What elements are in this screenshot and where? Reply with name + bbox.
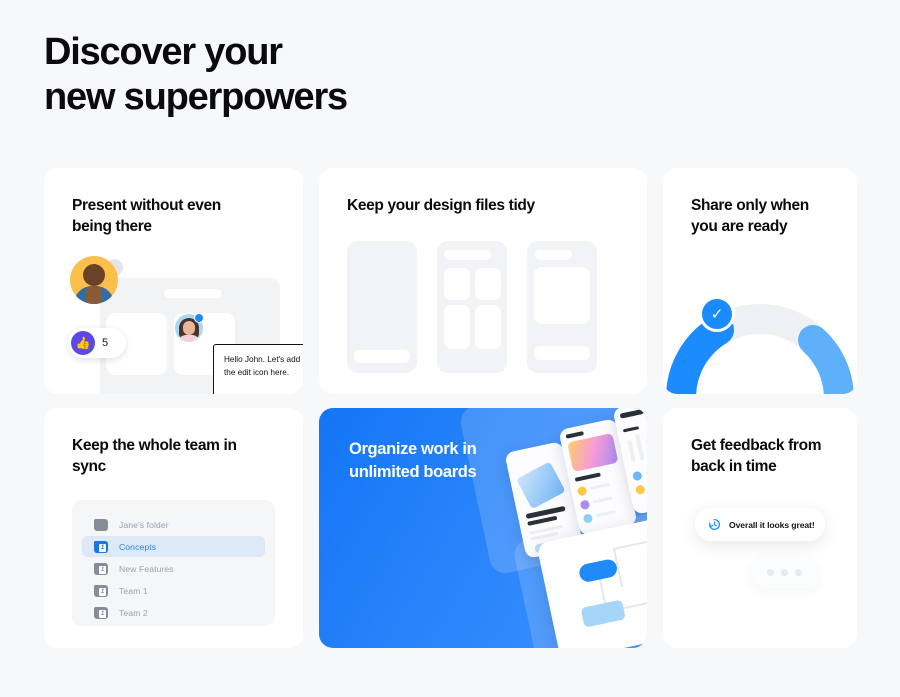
folder-badge: 1: [99, 566, 106, 574]
folder-icon: 1: [94, 607, 108, 619]
folder-label: Team 1: [119, 586, 148, 596]
check-icon: ✓: [699, 296, 735, 332]
folder-badge: 1: [99, 544, 106, 552]
folder-label: Jane's folder: [119, 520, 169, 530]
page-title: Discover your new superpowers: [44, 30, 347, 120]
list-item[interactable]: 1 Team 2: [82, 602, 265, 623]
list-item[interactable]: 1 Team 1: [82, 580, 265, 601]
typing-indicator: [751, 556, 817, 588]
card-organize-unlimited-boards[interactable]: Organize work in unlimited boards: [319, 408, 647, 648]
folder-icon: [94, 519, 108, 531]
avatar-jane: [175, 314, 203, 342]
card-title-feedback: Get feedback from back in time: [691, 435, 839, 478]
folder-icon: 1: [94, 563, 108, 575]
card-title-present: Present without even being there: [72, 195, 285, 238]
thumbs-up-icon: 👍: [71, 331, 95, 355]
card-title-sync: Keep the whole team in sync: [72, 435, 285, 478]
folder-badge: 1: [99, 610, 106, 618]
list-item[interactable]: 1 New Features: [82, 558, 265, 579]
card-keep-design-files-tidy[interactable]: Keep your design files tidy: [319, 168, 647, 394]
like-button[interactable]: 👍 5: [68, 328, 126, 358]
feedback-message-bubble: Overall it looks great!: [695, 508, 825, 541]
phone-mockup-1: [347, 241, 417, 373]
online-status-dot: [194, 313, 204, 323]
folder-icon: 1: [94, 585, 108, 597]
typing-dot: [781, 569, 788, 576]
folder-icon: 1: [94, 541, 108, 553]
comment-bubble: Hello John. Let's add the edit icon here…: [213, 344, 303, 394]
feedback-message-text: Overall it looks great!: [729, 520, 815, 530]
folder-list: Jane's folder 1 Concepts 1 New Features …: [72, 500, 275, 626]
present-illustration: 👍 5 Hello John. Let's add the edit icon …: [44, 256, 303, 394]
card-keep-team-in-sync[interactable]: Keep the whole team in sync Jane's folde…: [44, 408, 303, 648]
flow-node-rect: [581, 599, 626, 627]
typing-dot: [795, 569, 802, 576]
phone-mockup-2: [437, 241, 507, 373]
folder-label: New Features: [119, 564, 174, 574]
folder-label: Concepts: [119, 542, 156, 552]
list-item[interactable]: 1 Concepts: [82, 536, 265, 557]
flow-node-pill: [578, 558, 619, 584]
history-clock-icon: [708, 518, 721, 531]
files-illustration: [347, 241, 607, 373]
feature-card-grid: Present without even being there 👍 5: [44, 168, 857, 648]
card-get-feedback[interactable]: Get feedback from back in time Overall i…: [663, 408, 857, 648]
page-root: Discover your new superpowers Present wi…: [0, 0, 900, 697]
card-present-without-being-there[interactable]: Present without even being there 👍 5: [44, 168, 303, 394]
avatar-john: [70, 256, 118, 304]
list-item[interactable]: Jane's folder: [82, 514, 265, 535]
ghost-bar: [164, 289, 222, 298]
flow-node-diamond: [646, 567, 647, 614]
card-title-share: Share only when you are ready: [691, 195, 839, 238]
share-gauge-illustration: ✓: [663, 294, 857, 394]
typing-dot: [767, 569, 774, 576]
like-count: 5: [102, 337, 108, 349]
card-share-when-ready[interactable]: Share only when you are ready ✓: [663, 168, 857, 394]
gauge-arc: [663, 294, 857, 394]
folder-label: Team 2: [119, 608, 148, 618]
folder-badge: 1: [99, 588, 106, 596]
phone-mockup-3: [527, 241, 597, 373]
card-title-files: Keep your design files tidy: [347, 195, 629, 216]
comment-bubble-text: Hello John. Let's add the edit icon here…: [224, 355, 300, 377]
